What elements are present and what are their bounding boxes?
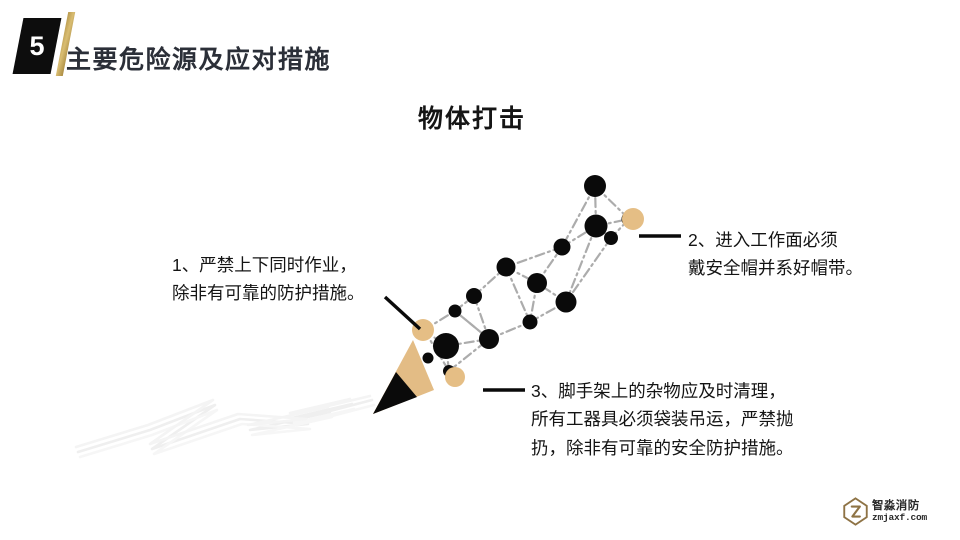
network-dots (423, 175, 637, 377)
dot-node (554, 239, 571, 256)
dot-node (523, 315, 538, 330)
brand-logo-icon (843, 497, 868, 526)
dot-node (527, 273, 547, 293)
dot-node (604, 231, 618, 245)
dot-node (449, 305, 462, 318)
dot-node (556, 292, 577, 313)
dot-node (479, 329, 499, 349)
dot-node (423, 353, 434, 364)
accent-dot-top-right (622, 208, 644, 230)
callout-text-1: 1、严禁上下同时作业， 除非有可靠的防护措施。 (172, 251, 365, 308)
dot-node (433, 333, 459, 359)
dot-node (466, 288, 482, 304)
callout-text-2: 2、进入工作面必须 戴安全帽并系好帽带。 (688, 226, 863, 283)
leader-line-1 (385, 297, 420, 329)
dot-node (584, 175, 606, 197)
dot-node (497, 258, 516, 277)
watermark-text: 智淼消防 zmjaxf.com (872, 500, 927, 522)
watermark: 智淼消防 zmjaxf.com (843, 497, 927, 526)
accent-dot-left (412, 319, 434, 341)
scribble-line-icon (76, 396, 374, 457)
slide-canvas: 5 主要危险源及应对措施 物体打击 (0, 0, 960, 540)
dot-node (585, 215, 608, 238)
watermark-brand-cn: 智淼消防 (872, 500, 927, 512)
watermark-brand-url: zmjaxf.com (872, 513, 927, 523)
accent-dot-bottom (445, 367, 465, 387)
callout-text-3: 3、脚手架上的杂物应及时清理， 所有工器具必须袋装吊运，严禁抛 扔，除非有可靠的… (531, 377, 794, 462)
